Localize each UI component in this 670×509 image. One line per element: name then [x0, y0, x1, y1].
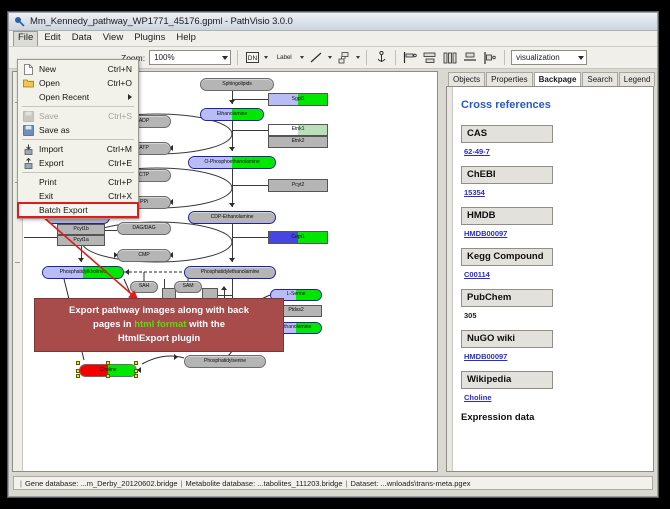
cross-reference-link[interactable]: HMDB00097 — [461, 352, 645, 361]
gene-node[interactable]: Pcyt1b — [57, 224, 105, 235]
metabolite-label: ADP — [139, 119, 149, 124]
arrow-icon — [229, 203, 235, 207]
metabolite-label: PPi — [140, 200, 148, 205]
chevron-down-icon — [222, 56, 228, 60]
gene-node[interactable]: Etnk2 — [268, 136, 328, 148]
backpage-panel[interactable]: Cross references CAS62-49-7ChEBI15354HMD… — [446, 86, 654, 472]
menu-help[interactable]: Help — [171, 31, 201, 46]
shape-icon[interactable] — [336, 50, 352, 66]
cross-reference-name: PubChem — [461, 289, 553, 307]
metabolite-label: Ethanolamine — [217, 112, 248, 117]
edge — [232, 99, 270, 100]
file-menu-item-save: SaveCtrl+S — [18, 109, 138, 123]
import-icon — [20, 144, 36, 155]
metabolite-label: O-Phosphoethanolamine — [204, 160, 259, 165]
cross-reference-value: 305 — [461, 311, 645, 320]
file-menu-item-label: Exit — [36, 191, 108, 201]
cross-reference-entry: PubChem305 — [461, 289, 645, 320]
selection-handle[interactable] — [106, 374, 110, 378]
side-panel: Objects Properties Backpage Search Legen… — [440, 71, 654, 472]
metabolite-label: CMP — [138, 253, 149, 258]
file-menu-item-shortcut: Ctrl+M — [107, 144, 138, 154]
cross-reference-name: Kegg Compound — [461, 248, 553, 266]
toolbar-separator-2 — [366, 50, 367, 65]
line-icon[interactable] — [308, 50, 324, 66]
cross-reference-link[interactable]: C00114 — [461, 270, 645, 279]
file-menu-item-open-recent[interactable]: Open Recent — [18, 90, 138, 104]
arrow-icon — [78, 258, 84, 262]
metabolite-label: DAG/DAG — [132, 226, 155, 231]
zoom-combo[interactable]: 100% — [149, 50, 231, 65]
edge — [232, 130, 270, 131]
file-menu-item-shortcut: Ctrl+N — [108, 64, 138, 74]
file-menu-item-import[interactable]: ImportCtrl+M — [18, 142, 138, 156]
tab-properties[interactable]: Properties — [486, 72, 532, 86]
cross-reference-entry: WikipediaCholine — [461, 371, 645, 402]
shape-dropdown-icon[interactable] — [356, 56, 360, 59]
file-menu-item-batch-export[interactable]: Batch Export — [18, 203, 138, 217]
metabolite-label: Sphingolipids — [222, 82, 252, 87]
menu-separator — [22, 172, 134, 173]
edge — [232, 224, 233, 262]
file-menu-dropdown[interactable]: NewCtrl+NOpenCtrl+OOpen RecentSaveCtrl+S… — [17, 59, 139, 219]
arrow-icon — [125, 269, 129, 275]
metabolite-label: CTP — [139, 173, 149, 178]
metabolite-node[interactable]: Phosphatidylethanolamine — [184, 266, 276, 279]
datanode-button[interactable]: DN — [244, 50, 260, 66]
metabolite-node[interactable]: Phosphatidylkholines — [42, 266, 124, 279]
metabolite-node[interactable]: SAH — [130, 281, 158, 293]
tab-objects[interactable]: Objects — [448, 72, 485, 86]
open-folder-icon — [20, 78, 36, 88]
gene-node[interactable]: Pcyt1a — [57, 235, 105, 246]
arrow-icon — [229, 147, 235, 151]
window-title: Mm_Kennedy_pathway_WP1771_45176.gpml - P… — [30, 16, 293, 27]
metabolite-node[interactable]: O-Phosphoethanolamine — [188, 156, 276, 169]
callout-line-2a: pages in — [93, 319, 134, 330]
metabolite-label: SAH — [139, 284, 149, 289]
cross-reference-link[interactable]: 15354 — [461, 188, 645, 197]
file-menu-item-label: Import — [36, 144, 107, 154]
metabolite-node[interactable]: Phosphatidylserine — [184, 355, 266, 368]
callout-line-3: HtmlExport plugin — [41, 332, 277, 346]
dataset-label: Dataset: — [350, 479, 378, 488]
metabolite-node[interactable]: SAM — [174, 281, 202, 293]
metabolite-label: L-Serine — [287, 292, 306, 297]
menu-separator — [22, 139, 134, 140]
toolbar-separator-4 — [504, 50, 505, 65]
arrow-icon — [221, 286, 227, 290]
menu-edit[interactable]: Edit — [39, 31, 65, 46]
gene-node[interactable]: Sgpl1 — [268, 93, 328, 106]
file-menu-item-label: Open — [36, 78, 107, 88]
callout-line-2c: with the — [186, 319, 225, 330]
menu-file[interactable]: File — [13, 31, 38, 46]
file-menu-item-shortcut: Ctrl+O — [107, 78, 138, 88]
cross-reference-entry: Kegg CompoundC00114 — [461, 248, 645, 279]
gene-node[interactable]: Pcyt2 — [268, 179, 328, 192]
tab-legend[interactable]: Legend — [619, 72, 656, 86]
metabolite-label: ATP — [139, 146, 148, 151]
gene-node[interactable]: Etnk1 — [268, 124, 328, 136]
svg-text:DN: DN — [247, 55, 257, 62]
file-menu-item-label: Export — [36, 158, 108, 168]
metabolite-label: Phosphatidylserine — [204, 359, 246, 364]
selection-handle[interactable] — [134, 361, 138, 365]
save-as-icon — [20, 125, 36, 136]
align-left-icon[interactable] — [402, 50, 418, 66]
cross-reference-entry: CAS62-49-7 — [461, 125, 645, 156]
datanode-dropdown-icon[interactable] — [264, 56, 268, 59]
screenshot-root: Mm_Kennedy_pathway_WP1771_45176.gpml - P… — [0, 0, 670, 509]
arrow-icon — [229, 100, 235, 104]
submenu-arrow-icon — [128, 94, 132, 100]
chevron-down-icon-2 — [578, 56, 584, 60]
cross-reference-name: ChEBI — [461, 166, 553, 184]
edge — [218, 295, 232, 296]
label-button[interactable]: Label — [272, 50, 296, 66]
gene-label: Pcyt1a — [73, 238, 88, 243]
gene-label: Cept1 — [291, 235, 304, 240]
cross-reference-name: NuGO wiki — [461, 330, 553, 348]
metabolite-database-value: ...tabolites_111203.bridge — [257, 479, 342, 488]
new-file-icon — [20, 64, 36, 75]
metabolite-label: SAM — [183, 284, 194, 289]
cross-reference-name: Wikipedia — [461, 371, 553, 389]
selection-handle[interactable] — [134, 374, 138, 378]
cross-reference-entry: ChEBI15354 — [461, 166, 645, 197]
menu-plugins[interactable]: Plugins — [129, 31, 170, 46]
selection-handle[interactable] — [76, 361, 80, 365]
zoom-value: 100% — [154, 53, 174, 62]
backpage-content: Cross references CAS62-49-7ChEBI15354HMD… — [447, 99, 653, 423]
callout-line-2: pages in html format with the — [41, 318, 277, 332]
file-menu-item-label: Batch Export — [36, 205, 132, 215]
dataset-value: ...wnloads\trans-meta.pgex — [380, 479, 470, 488]
panel-scrollbar[interactable] — [447, 87, 453, 471]
file-menu-item-open[interactable]: OpenCtrl+O — [18, 76, 138, 90]
file-menu-item-export[interactable]: ExportCtrl+E — [18, 156, 138, 170]
file-menu-item-shortcut: Ctrl+X — [108, 191, 138, 201]
tab-search[interactable]: Search — [582, 72, 617, 86]
file-menu-item-shortcut: Ctrl+E — [108, 158, 138, 168]
toolbar-separator — [237, 50, 238, 65]
file-menu-item-label: Save — [36, 111, 108, 121]
metabolite-label: CDP-Ethanolamine — [211, 215, 254, 220]
menu-separator — [22, 106, 134, 107]
gene-database-value: ...m_Derby_20120602.bridge — [80, 479, 177, 488]
gene-node[interactable]: Cept1 — [268, 231, 328, 244]
file-menu-item-label: New — [36, 64, 108, 74]
save-icon — [20, 111, 36, 122]
cross-reference-entry: NuGO wikiHMDB00097 — [461, 330, 645, 361]
gene-database-label: Gene database: — [25, 479, 78, 488]
cross-reference-link[interactable]: HMDB00097 — [461, 229, 645, 238]
tab-backpage[interactable]: Backpage — [534, 72, 582, 87]
arrow-icon — [229, 258, 235, 262]
file-menu-item-shortcut: Ctrl+P — [108, 177, 138, 187]
file-menu-item-print[interactable]: PrintCtrl+P — [18, 175, 138, 189]
gene-label: Ptdss2 — [288, 308, 303, 313]
metabolite-node[interactable]: Ethanolamine — [200, 108, 264, 121]
file-menu-item-exit[interactable]: ExitCtrl+X — [18, 189, 138, 203]
side-panel-tabs[interactable]: Objects Properties Backpage Search Legen… — [440, 71, 654, 86]
callout-line-1: Export pathway images along with back — [41, 304, 277, 318]
menu-view[interactable]: View — [98, 31, 128, 46]
cross-reference-link[interactable]: Choline — [461, 393, 645, 402]
application-window: Mm_Kennedy_pathway_WP1771_45176.gpml - P… — [8, 12, 658, 497]
cross-reference-name: HMDB — [461, 207, 553, 225]
cross-references-title: Cross references — [461, 99, 645, 111]
line-dropdown-icon[interactable] — [328, 56, 332, 59]
gene-label: Sgpl1 — [292, 97, 305, 102]
file-menu-item-label: Save as — [36, 125, 132, 135]
toolbar-separator-3 — [395, 50, 396, 65]
file-menu-item-save-as[interactable]: Save as — [18, 123, 138, 137]
selection-handle[interactable] — [76, 369, 80, 373]
metabolite-node[interactable]: CMP — [117, 249, 171, 262]
selection-handle[interactable] — [76, 374, 80, 378]
edge — [232, 169, 233, 207]
metabolite-label: Choline — [100, 368, 117, 373]
label-dropdown-icon[interactable] — [300, 56, 304, 59]
anchor-icon[interactable] — [373, 50, 389, 66]
annotation-callout: Export pathway images along with back pa… — [34, 298, 284, 352]
title-bar: Mm_Kennedy_pathway_WP1771_45176.gpml - P… — [9, 13, 657, 31]
metabolite-node[interactable]: Sphingolipids — [200, 78, 274, 91]
file-menu-item-label: Print — [36, 177, 108, 187]
metabolite-node[interactable]: CDP-Ethanolamine — [188, 211, 276, 224]
metabolite-node[interactable]: DAG/DAG — [117, 222, 171, 235]
cross-reference-link[interactable]: 62-49-7 — [461, 147, 645, 156]
visualization-value: visualization — [516, 53, 560, 62]
metabolite-label: Phosphatidylethanolamine — [201, 270, 259, 275]
distribute-icon[interactable] — [442, 50, 458, 66]
expression-data-title: Expression data — [461, 412, 645, 423]
gene-label: Etnk1 — [292, 127, 305, 132]
cross-reference-list: CAS62-49-7ChEBI15354HMDBHMDB00097Kegg Co… — [461, 125, 645, 402]
gene-label: Etnk2 — [292, 139, 305, 144]
edge — [232, 237, 270, 238]
arrow-icon — [174, 354, 178, 360]
cross-reference-entry: HMDBHMDB00097 — [461, 207, 645, 238]
selection-handle[interactable] — [106, 361, 110, 365]
file-menu-item-shortcut: Ctrl+S — [108, 111, 138, 121]
selection-handle[interactable] — [134, 369, 138, 373]
align-center-icon[interactable] — [422, 50, 438, 66]
file-menu-item-label: Open Recent — [36, 92, 128, 102]
stack-icon[interactable] — [462, 50, 478, 66]
callout-highlight: html format — [134, 319, 186, 330]
edge — [105, 230, 117, 231]
metabolite-label: Ethanolamine — [281, 325, 312, 330]
cross-reference-name: CAS — [461, 125, 553, 143]
file-menu-item-new[interactable]: NewCtrl+N — [18, 62, 138, 76]
gene-label: Pcyt1b — [73, 227, 88, 232]
menu-data[interactable]: Data — [67, 31, 97, 46]
gene-label: Pcyt2 — [292, 183, 304, 188]
status-text: | Gene database: ...m_Derby_20120602.bri… — [13, 476, 653, 490]
metabolite-label: Phosphatidylkholines — [60, 270, 107, 275]
edge — [232, 185, 270, 186]
pathvisio-icon — [14, 16, 25, 27]
export-icon — [20, 158, 36, 169]
metabolite-database-label: Metabolite database: — [186, 479, 256, 488]
status-bar: | Gene database: ...m_Derby_20120602.bri… — [9, 474, 657, 496]
order-icon[interactable] — [482, 50, 498, 66]
menu-bar[interactable]: File Edit Data View Plugins Help — [9, 31, 657, 47]
visualization-combo[interactable]: visualization — [511, 50, 587, 65]
